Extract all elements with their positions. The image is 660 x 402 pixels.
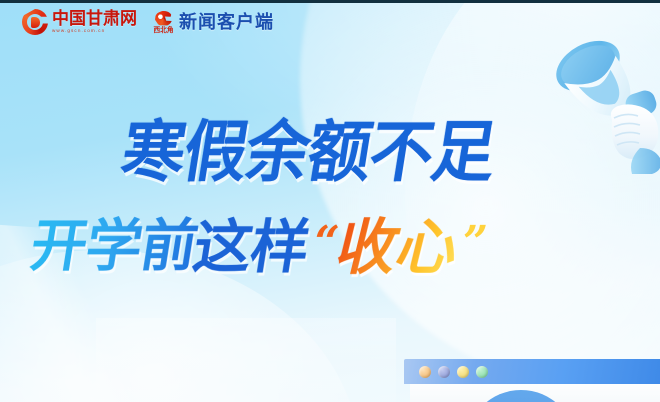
browser-titlebar bbox=[404, 359, 660, 384]
logo-secondary-mark-text: 西北角 bbox=[154, 26, 174, 34]
logo-news-client[interactable]: 西北角 新闻客户端 bbox=[153, 11, 274, 34]
logo-primary-url: www.gscn.com.cn bbox=[52, 28, 137, 34]
megaphone-illustration bbox=[548, 24, 660, 174]
dot-periwinkle bbox=[438, 366, 450, 378]
blue-circle-decoration bbox=[466, 390, 576, 402]
browser-content-area bbox=[410, 384, 660, 402]
dot-green bbox=[476, 366, 488, 378]
flame-circle-logo-icon bbox=[22, 9, 48, 35]
header-logo-bar: 中国甘肃网 www.gscn.com.cn 西北角 新闻客户端 bbox=[22, 9, 274, 35]
megaphone-icon bbox=[548, 24, 660, 174]
dot-yellow bbox=[457, 366, 469, 378]
logo-secondary-title: 新闻客户端 bbox=[179, 13, 274, 32]
top-edge-strip bbox=[0, 0, 660, 3]
logo-primary-name: 中国甘肃网 bbox=[52, 10, 137, 28]
pale-panel-decoration bbox=[96, 318, 396, 402]
logo-china-gansu-net[interactable]: 中国甘肃网 www.gscn.com.cn bbox=[22, 9, 137, 35]
dot-orange bbox=[419, 366, 431, 378]
browser-window-mockup bbox=[404, 359, 660, 402]
northwest-corner-bird-logo-icon: 西北角 bbox=[153, 11, 174, 34]
poster-canvas: 中国甘肃网 www.gscn.com.cn 西北角 新闻客户端 bbox=[0, 0, 660, 402]
